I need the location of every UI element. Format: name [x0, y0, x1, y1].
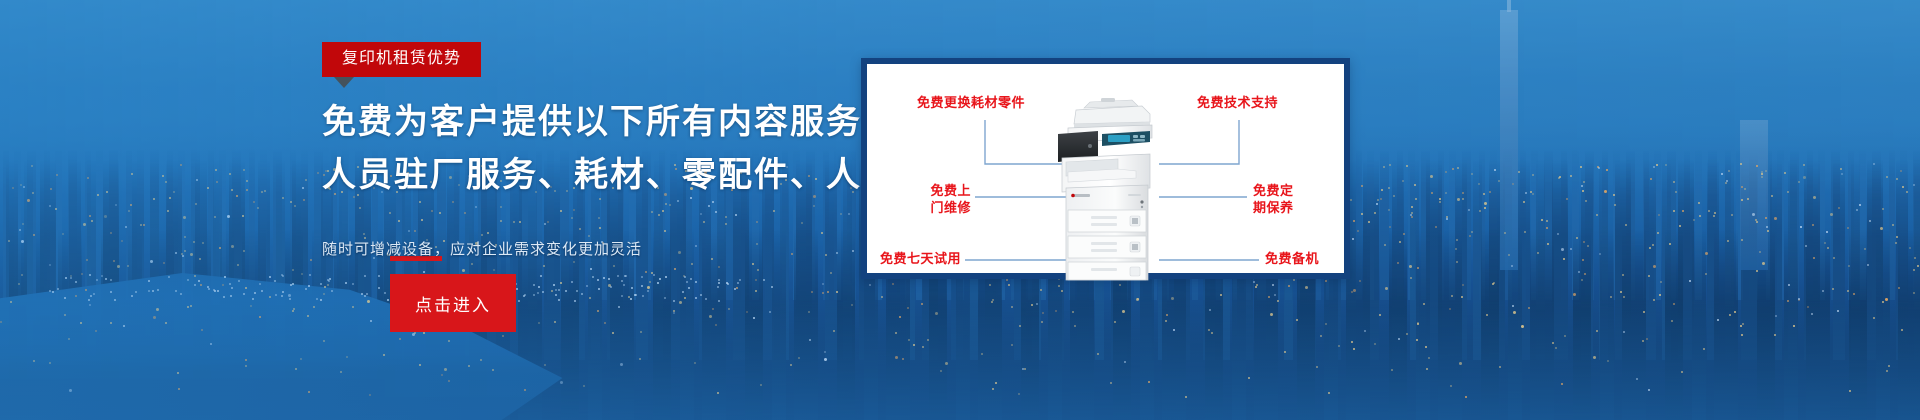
label-free-onsite-repair-line2: 门维修: [875, 199, 971, 216]
banner-subtitle: 随时可增减设备，应对企业需求变化更加灵活: [322, 238, 882, 259]
promo-banner: 复印机租赁优势 免费为客户提供以下所有内容服务： 人员驻厂服务、耗材、零配件、人…: [0, 0, 1920, 420]
leader-line-top-left: [985, 120, 1067, 164]
badge-pointer-icon: [334, 77, 354, 88]
headline-line-1: 免费为客户提供以下所有内容服务：: [322, 103, 898, 141]
label-free-periodic-service: 免费定 期保养: [1253, 182, 1349, 216]
label-free-periodic-service-line2: 期保养: [1253, 199, 1349, 216]
label-free-consumable-parts: 免费更换耗材零件: [875, 94, 1025, 111]
banner-headline: 免费为客户提供以下所有内容服务： 人员驻厂服务、耗材、零配件、人工费: [322, 96, 882, 202]
background-river-haze: [0, 300, 1920, 420]
label-free-onsite-repair-line1: 免费上: [875, 182, 971, 199]
advantage-badge-wrapper: 复印机租赁优势: [322, 42, 481, 77]
service-diagram-panel: 免费更换耗材零件 免费技术支持 免费上 门维修 免费定 期保养 免费七天试用 免…: [861, 58, 1350, 279]
banner-left-content: 复印机租赁优势 免费为客户提供以下所有内容服务： 人员驻厂服务、耗材、零配件、人…: [322, 0, 882, 420]
advantage-badge: 复印机租赁优势: [322, 42, 481, 77]
copier-machine-illustration: [1046, 92, 1166, 282]
tower-oriental-pearl: [1500, 10, 1518, 270]
label-free-periodic-service-line1: 免费定: [1253, 182, 1349, 199]
label-free-onsite-repair: 免费上 门维修: [875, 182, 971, 216]
label-free-backup-machine: 免费备机: [1265, 250, 1355, 267]
enter-button[interactable]: 点击进入: [390, 274, 516, 332]
tower-right-far: [1740, 120, 1768, 270]
label-free-seven-day-trial: 免费七天试用: [871, 250, 961, 267]
leader-line-top-right: [1159, 120, 1239, 164]
headline-line-2: 人员驻厂服务、耗材、零配件、人工费: [322, 149, 882, 202]
label-free-tech-support: 免费技术支持: [1197, 94, 1347, 111]
